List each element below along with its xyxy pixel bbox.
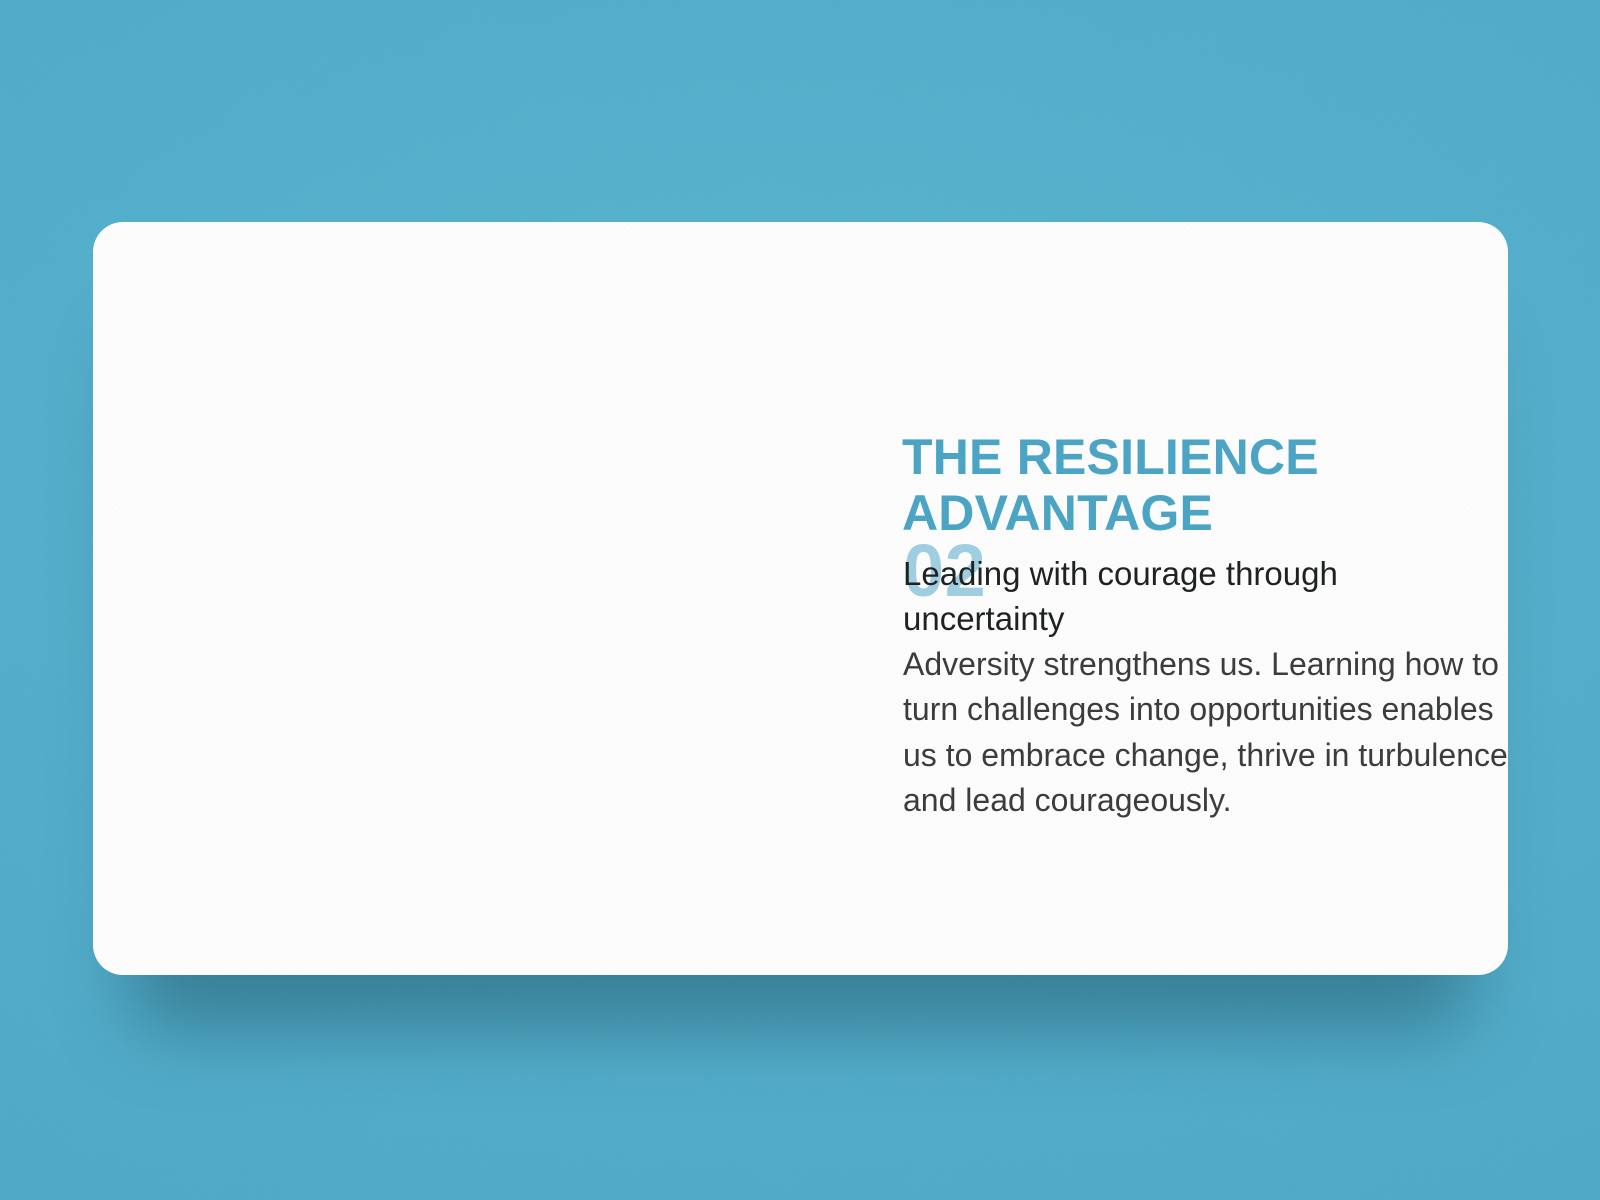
slide-card: 02 THE RESILIENCE ADVANTAGE Leading with… [93,222,1508,975]
page-title: THE RESILIENCE ADVANTAGE [902,429,1502,541]
card-content-column: 02 THE RESILIENCE ADVANTAGE Leading with… [809,222,1508,975]
section-body-text: Adversity strengthens us. Learning how t… [903,642,1508,824]
section-subtitle: Leading with courage through uncertainty [903,552,1463,642]
card-media-area [93,222,809,975]
slide-stage: 02 THE RESILIENCE ADVANTAGE Leading with… [0,0,1600,1200]
